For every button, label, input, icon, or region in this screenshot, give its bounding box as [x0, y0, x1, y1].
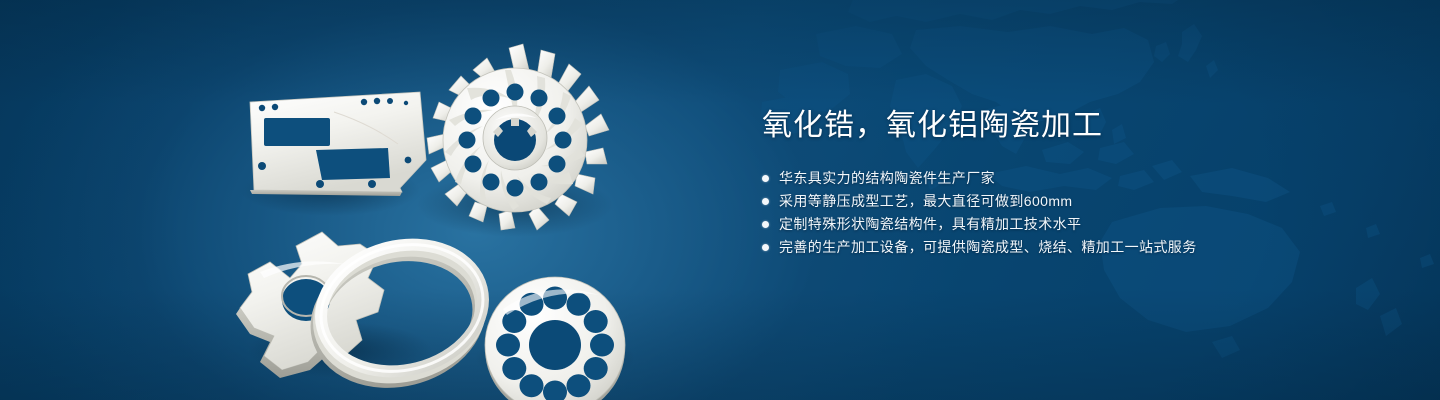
ceramic-processing-banner: 氧化锆，氧化铝陶瓷加工 华东具实力的结构陶瓷件生产厂家 采用等静压成型工艺，最大… — [0, 0, 1440, 400]
feature-text: 采用等静压成型工艺，最大直径可做到600mm — [779, 190, 1072, 213]
banner-copy: 氧化锆，氧化铝陶瓷加工 华东具实力的结构陶瓷件生产厂家 采用等静压成型工艺，最大… — [762, 108, 1382, 259]
bullet-dot-icon — [762, 221, 769, 228]
bullet-dot-icon — [762, 244, 769, 251]
ceramic-products-image — [230, 40, 680, 380]
list-item: 采用等静压成型工艺，最大直径可做到600mm — [762, 190, 1382, 213]
page-title: 氧化锆，氧化铝陶瓷加工 — [762, 108, 1382, 143]
bullet-dot-icon — [762, 198, 769, 205]
list-item: 华东具实力的结构陶瓷件生产厂家 — [762, 167, 1382, 190]
feature-text: 完善的生产加工设备，可提供陶瓷成型、烧结、精加工一站式服务 — [779, 236, 1197, 259]
feature-list: 华东具实力的结构陶瓷件生产厂家 采用等静压成型工艺，最大直径可做到600mm 定… — [762, 167, 1382, 259]
feature-text: 华东具实力的结构陶瓷件生产厂家 — [779, 167, 995, 190]
ceramic-perforated-disc-shape — [485, 277, 625, 400]
feature-text: 定制特殊形状陶瓷结构件，具有精加工技术水平 — [779, 213, 1081, 236]
ceramic-flat-plate-shape — [250, 92, 426, 196]
bullet-dot-icon — [762, 175, 769, 182]
list-item: 定制特殊形状陶瓷结构件，具有精加工技术水平 — [762, 213, 1382, 236]
list-item: 完善的生产加工设备，可提供陶瓷成型、烧结、精加工一站式服务 — [762, 236, 1382, 259]
